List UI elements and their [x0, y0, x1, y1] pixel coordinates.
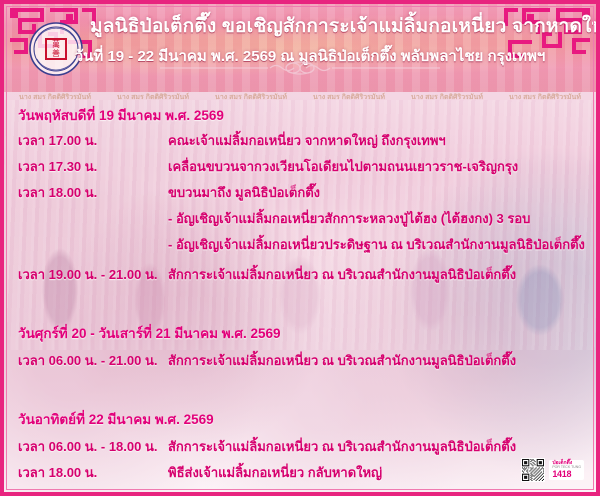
row-time: เวลา 17.30 น. [18, 156, 97, 177]
event-poster: 萬 善 มูลนิธิป่อเต็กตึ๊ง ขอเชิญสักการะเจ้า… [0, 0, 600, 496]
row-time: เวลา 06.00 น. - 21.00 น. [18, 350, 157, 371]
day-heading: วันพฤหัสบดีที่ 19 มีนาคม พ.ศ. 2569 [18, 104, 224, 126]
footer-badge: ป่อเต็กตึ๊ง POR TECK TUNG 1418 [521, 458, 584, 482]
schedule-row: - อัญเชิญเจ้าแม่ลิ้มกอเหนี่ยวสักการะหลวง… [6, 208, 594, 232]
hotline-number: 1418 [552, 470, 571, 479]
row-description: ขบวนมาถึง มูลนิธิป่อเต็กตึ๊ง [168, 182, 590, 203]
row-time: เวลา 17.00 น. [18, 130, 97, 151]
watermark-text: นาง สมร กิตติศิริวรมันท์ [313, 92, 385, 103]
row-description: คณะเจ้าแม่ลิ้มกอเหนี่ยว จากหาดใหญ่ ถึงกร… [168, 130, 590, 151]
schedule-row: เวลา 06.00 น. - 21.00 น. สักการะเจ้าแม่ล… [6, 350, 594, 374]
watermark-text: นาง สมร กิตติศิริวรมันท์ [215, 92, 287, 103]
day-heading: วันอาทิตย์ที่ 22 มีนาคม พ.ศ. 2569 [18, 408, 214, 430]
svg-text:萬: 萬 [52, 39, 60, 49]
poster-title: มูลนิธิป่อเต็กตึ๊ง ขอเชิญสักการะเจ้าแม่ล… [90, 16, 512, 37]
watermark-text: นาง สมร กิตติศิริวรมันท์ [117, 92, 189, 103]
row-description: สักการะเจ้าแม่ลิ้มกอเหนี่ยว ณ บริเวณสำนั… [168, 436, 590, 457]
schedule-row: เวลา 18.00 น. พิธีส่งเจ้าแม่ลิ้มกอเหนี่ย… [6, 462, 594, 486]
schedule-row: เวลา 19.00 น. - 21.00 น. สักการะเจ้าแม่ล… [6, 264, 594, 288]
schedule-row: เวลา 18.00 น. ขบวนมาถึง มูลนิธิป่อเต็กตึ… [6, 182, 594, 206]
qr-code-icon [521, 458, 545, 482]
schedule-row: เวลา 06.00 น. - 18.00 น. สักการะเจ้าแม่ล… [6, 436, 594, 460]
hotline-badge: ป่อเต็กตึ๊ง POR TECK TUNG 1418 [549, 460, 584, 480]
schedule-row: เวลา 17.00 น. คณะเจ้าแม่ลิ้มกอเหนี่ยว จา… [6, 130, 594, 154]
row-description: - อัญเชิญเจ้าแม่ลิ้มกอเหนี่ยวประดิษฐาน ณ… [168, 234, 590, 255]
row-description: สักการะเจ้าแม่ลิ้มกอเหนี่ยว ณ บริเวณสำนั… [168, 264, 590, 285]
row-time: เวลา 06.00 น. - 18.00 น. [18, 436, 157, 457]
row-time: เวลา 18.00 น. [18, 182, 97, 203]
poster-banner: 萬 善 มูลนิธิป่อเต็กตึ๊ง ขอเชิญสักการะเจ้า… [4, 4, 596, 92]
row-description: - อัญเชิญเจ้าแม่ลิ้มกอเหนี่ยวสักการะหลวง… [168, 208, 590, 229]
schedule: วันพฤหัสบดีที่ 19 มีนาคม พ.ศ. 2569 เวลา … [6, 104, 594, 490]
watermark-text: นาง สมร กิตติศิริวรมันท์ [411, 92, 483, 103]
row-description: สักการะเจ้าแม่ลิ้มกอเหนี่ยว ณ บริเวณสำนั… [168, 350, 590, 371]
svg-text:善: 善 [52, 48, 60, 58]
schedule-row: เวลา 17.30 น. เคลื่อนขบวนจากวงเวียนโอเดี… [6, 156, 594, 180]
row-time: เวลา 18.00 น. [18, 462, 97, 483]
watermark-text: นาง สมร กิตติศิริวรมันท์ [19, 92, 91, 103]
watermark-text: นาง สมร กิตติศิริวรมันท์ [509, 92, 581, 103]
row-time: เวลา 19.00 น. - 21.00 น. [18, 264, 157, 285]
day-heading: วันศุกร์ที่ 20 - วันเสาร์ที่ 21 มีนาคม พ… [18, 322, 281, 344]
schedule-row: - อัญเชิญเจ้าแม่ลิ้มกอเหนี่ยวประดิษฐาน ณ… [6, 234, 594, 258]
row-description: เคลื่อนขบวนจากวงเวียนโอเดียนไปตามถนนเยาว… [168, 156, 590, 177]
banner-flourish-ornament [4, 60, 596, 76]
